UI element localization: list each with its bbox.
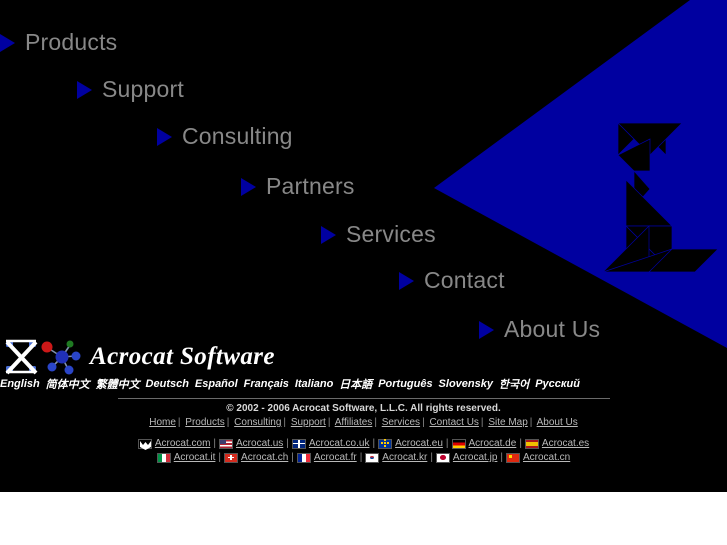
footer-separator: |: [176, 417, 183, 428]
footer-separator: |: [281, 417, 288, 428]
flag-cn-icon: [506, 453, 520, 463]
flag-jp-icon: [436, 453, 450, 463]
footer-separator: |: [420, 417, 427, 428]
domain-separator: |: [358, 452, 365, 463]
footer-separator: |: [479, 417, 486, 428]
domain-separator: |: [370, 438, 377, 449]
footer-link-products[interactable]: Products: [185, 417, 224, 428]
domain-link-co-uk[interactable]: Acrocat.co.uk: [292, 438, 370, 449]
flag-es-icon: [525, 439, 539, 449]
language-link-italiano[interactable]: Italiano: [295, 378, 334, 390]
flag-kr-icon: [365, 453, 379, 463]
language-link-francais[interactable]: Français: [244, 378, 289, 390]
menu-item-partners[interactable]: Partners: [241, 175, 355, 198]
language-selector-bar: English 简体中文 繁體中文 Deutsch Español França…: [0, 376, 580, 392]
language-link-zh-hant[interactable]: 繁體中文: [96, 376, 140, 392]
domain-row-1: Acrocat.com | Acrocat.us | Acrocat.co.uk…: [0, 437, 727, 450]
footer-link-services[interactable]: Services: [382, 417, 420, 428]
menu-item-label: Services: [346, 223, 436, 246]
arrow-right-icon: [241, 178, 256, 196]
domain-separator: |: [211, 438, 218, 449]
menu-item-consulting[interactable]: Consulting: [157, 125, 293, 148]
domain-link-es[interactable]: Acrocat.es: [525, 438, 589, 449]
menu-item-label: Products: [25, 31, 117, 54]
regional-domain-links: Acrocat.com | Acrocat.us | Acrocat.co.uk…: [0, 437, 727, 465]
domain-label: Acrocat.it: [174, 452, 216, 463]
copyright-notice: © 2002 - 2006 Acrocat Software, L.L.C. A…: [0, 403, 727, 414]
menu-item-label: Contact: [424, 269, 505, 292]
footer-link-about-us[interactable]: About Us: [537, 417, 578, 428]
domain-link-jp[interactable]: Acrocat.jp: [436, 452, 497, 463]
domain-label: Acrocat.jp: [453, 452, 497, 463]
domain-separator: |: [444, 438, 451, 449]
domain-separator: |: [216, 452, 223, 463]
domain-label: Acrocat.co.uk: [309, 438, 370, 449]
domain-label: Acrocat.kr: [382, 452, 427, 463]
footer-separator: |: [528, 417, 535, 428]
menu-item-products[interactable]: Products: [0, 31, 117, 54]
domain-label: Acrocat.cn: [523, 452, 570, 463]
domain-link-fr[interactable]: Acrocat.fr: [297, 452, 357, 463]
arrow-right-icon: [321, 226, 336, 244]
footer-separator: |: [225, 417, 232, 428]
arrow-right-icon: [77, 81, 92, 99]
language-link-espanol[interactable]: Español: [195, 378, 238, 390]
menu-item-label: Consulting: [182, 125, 293, 148]
flag-uk-icon: [292, 439, 306, 449]
domain-label: Acrocat.eu: [395, 438, 443, 449]
menu-item-services[interactable]: Services: [321, 223, 436, 246]
language-link-japanese[interactable]: 日本語: [339, 376, 372, 392]
domain-link-ch[interactable]: Acrocat.ch: [224, 452, 288, 463]
cascading-main-menu: Products Support Consulting Partners Ser…: [0, 0, 727, 360]
footer-link-contact-us[interactable]: Contact Us: [429, 417, 478, 428]
domain-label: Acrocat.fr: [314, 452, 357, 463]
site-logo[interactable]: Acrocat Software: [4, 336, 275, 378]
footer-divider: [118, 398, 610, 399]
domain-link-cn[interactable]: Acrocat.cn: [506, 452, 570, 463]
domain-link-it[interactable]: Acrocat.it: [157, 452, 216, 463]
domain-label: Acrocat.ch: [241, 452, 288, 463]
footer-link-home[interactable]: Home: [149, 417, 176, 428]
domain-label: Acrocat.de: [469, 438, 517, 449]
arrow-right-icon: [0, 34, 15, 52]
domain-link-com[interactable]: Acrocat.com: [138, 438, 211, 449]
flag-it-icon: [157, 453, 171, 463]
acrocat-molecule-logo-icon: [4, 337, 82, 377]
language-link-slovensky[interactable]: Slovensky: [439, 378, 493, 390]
domain-link-eu[interactable]: Acrocat.eu: [378, 438, 443, 449]
domain-row-2: Acrocat.it | Acrocat.ch | Acrocat.fr | A…: [0, 451, 727, 464]
language-link-korean[interactable]: 한국어: [499, 376, 529, 392]
domain-label: Acrocat.us: [236, 438, 283, 449]
domain-separator: |: [517, 438, 524, 449]
language-link-russian[interactable]: Русский: [535, 378, 580, 390]
domain-separator: |: [428, 452, 435, 463]
arrow-right-icon: [479, 321, 494, 339]
flag-de-icon: [452, 439, 466, 449]
acrocat-cat-icon: [138, 439, 152, 449]
domain-separator: |: [284, 438, 291, 449]
flag-eu-icon: [378, 439, 392, 449]
language-link-portugues[interactable]: Português: [378, 378, 432, 390]
language-link-deutsch[interactable]: Deutsch: [146, 378, 189, 390]
domain-separator: |: [498, 452, 505, 463]
domain-link-de[interactable]: Acrocat.de: [452, 438, 517, 449]
language-link-zh-hans[interactable]: 简体中文: [46, 376, 90, 392]
flag-ch-icon: [224, 453, 238, 463]
domain-link-kr[interactable]: Acrocat.kr: [365, 452, 427, 463]
footer-link-site-map[interactable]: Site Map: [488, 417, 527, 428]
domain-link-us[interactable]: Acrocat.us: [219, 438, 283, 449]
domain-label: Acrocat.com: [155, 438, 211, 449]
domain-label: Acrocat.es: [542, 438, 589, 449]
menu-item-label: About Us: [504, 318, 600, 341]
flag-us-icon: [219, 439, 233, 449]
flag-fr-icon: [297, 453, 311, 463]
footer-link-support[interactable]: Support: [291, 417, 326, 428]
page-root: Products Support Consulting Partners Ser…: [0, 0, 727, 545]
footer-nav-links: Home| Products| Consulting| Support| Aff…: [0, 417, 727, 428]
footer-separator: |: [372, 417, 379, 428]
menu-item-about-us[interactable]: About Us: [479, 318, 600, 341]
arrow-right-icon: [399, 272, 414, 290]
footer-separator: |: [326, 417, 333, 428]
footer-link-affiliates[interactable]: Affiliates: [335, 417, 373, 428]
logo-wordmark: Acrocat Software: [90, 343, 275, 371]
menu-item-contact[interactable]: Contact: [399, 269, 505, 292]
menu-item-support[interactable]: Support: [77, 78, 184, 101]
language-link-english[interactable]: English: [0, 378, 40, 390]
menu-item-label: Partners: [266, 175, 355, 198]
menu-item-label: Support: [102, 78, 184, 101]
domain-separator: |: [289, 452, 296, 463]
site-canvas: Products Support Consulting Partners Ser…: [0, 0, 727, 492]
footer-link-consulting[interactable]: Consulting: [234, 417, 281, 428]
arrow-right-icon: [157, 128, 172, 146]
